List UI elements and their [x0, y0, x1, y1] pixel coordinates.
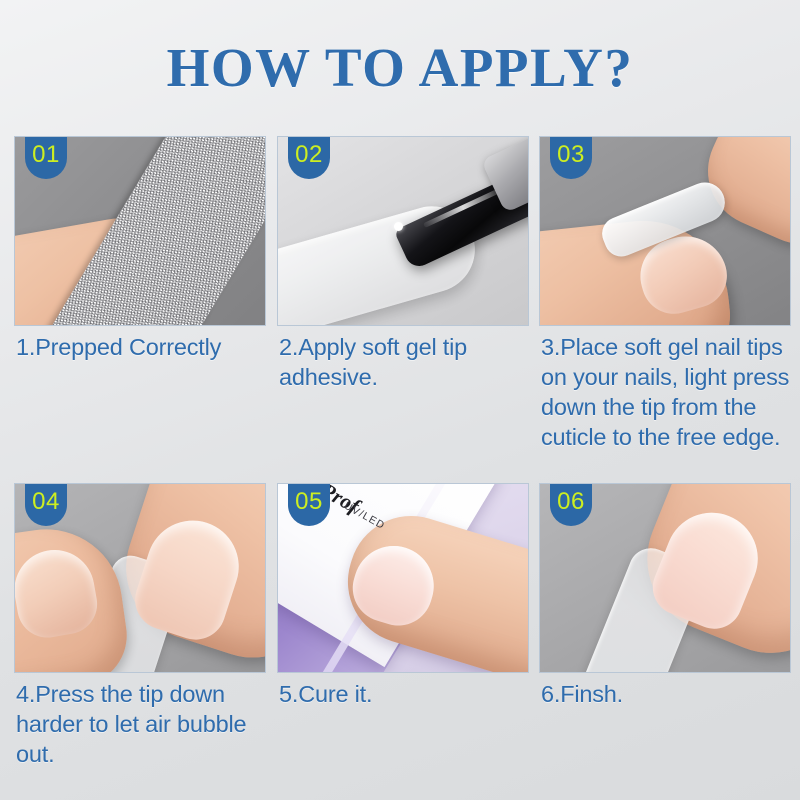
adhesive-drop: [394, 222, 403, 231]
step-badge-1: 01: [25, 137, 67, 179]
step-caption-5: 5.Cure it.: [279, 679, 531, 709]
step-badge-6: 06: [550, 484, 592, 526]
step-caption-1: 1.Prepped Correctly: [16, 332, 268, 362]
step-caption-3: 3.Place soft gel nail tips on your nails…: [541, 332, 793, 452]
step-caption-4: 4.Press the tip down harder to let air b…: [16, 679, 268, 769]
step-caption-6: 6.Finsh.: [541, 679, 793, 709]
step-photo-4: 04: [14, 483, 266, 673]
step-photo-3: 03: [539, 136, 791, 326]
step-photo-5: Prof UV/LED 05: [277, 483, 529, 673]
page-title: HOW TO APPLY?: [0, 36, 800, 99]
step-badge-5: 05: [288, 484, 330, 526]
step-photo-1: 01: [14, 136, 266, 326]
step-badge-3: 03: [550, 137, 592, 179]
step-photo-6: 06: [539, 483, 791, 673]
step-caption-2: 2.Apply soft gel tip adhesive.: [279, 332, 531, 392]
infographic-page: HOW TO APPLY? 01 1.Prepped Correctly: [0, 0, 800, 800]
step-badge-2: 02: [288, 137, 330, 179]
step-photo-2: 02: [277, 136, 529, 326]
step-badge-4: 04: [25, 484, 67, 526]
